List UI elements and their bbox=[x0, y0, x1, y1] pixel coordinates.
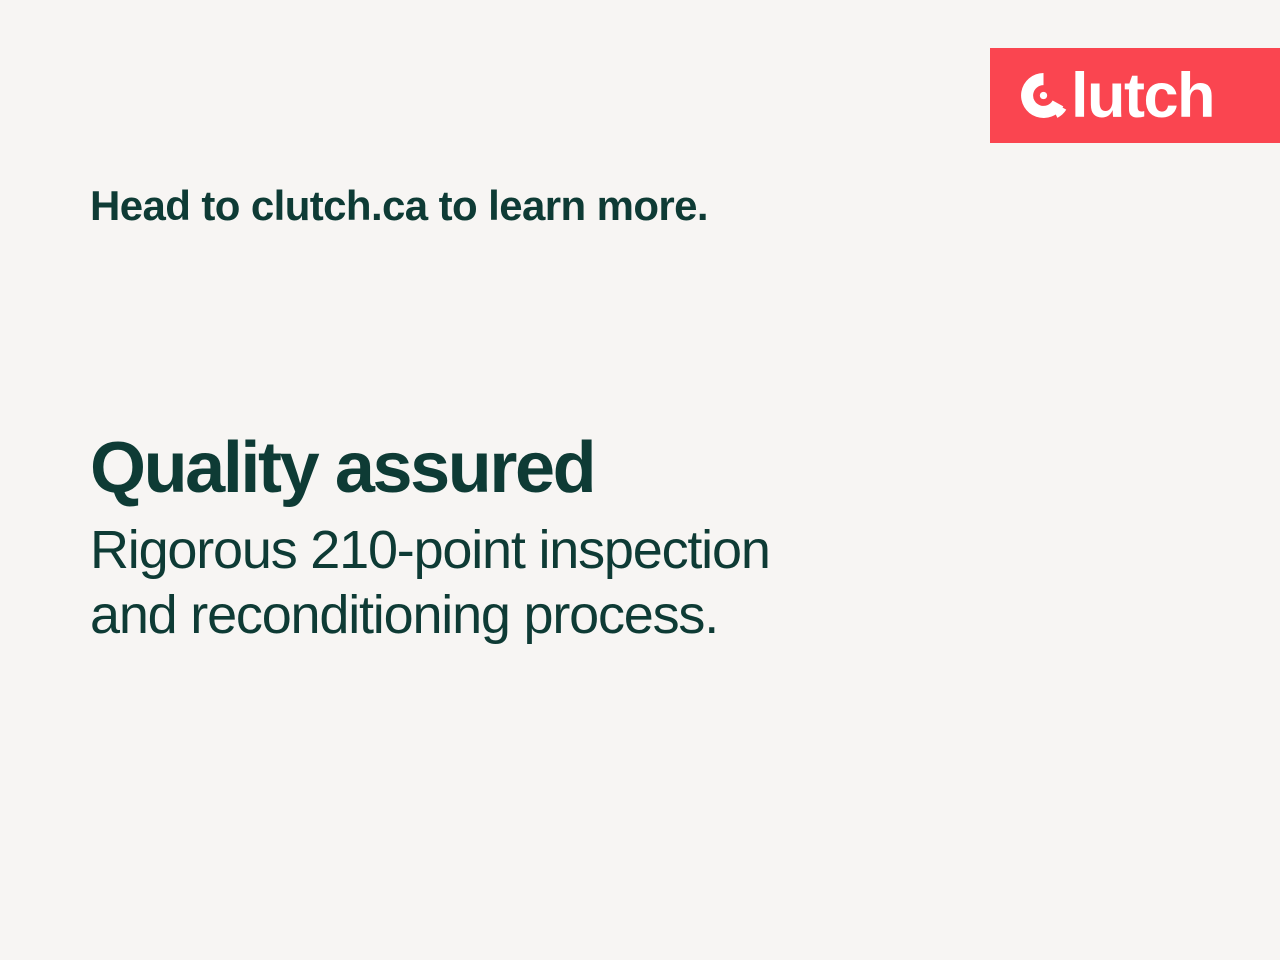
clutch-wordmark-text: lutch bbox=[1071, 65, 1214, 128]
subhead: Rigorous 210-point inspection and recond… bbox=[90, 518, 1050, 648]
kicker-text: Head to clutch.ca to learn more. bbox=[90, 182, 708, 229]
subhead-line-1: Rigorous 210-point inspection bbox=[90, 518, 1050, 583]
promo-slide: lutch Head to clutch.ca to learn more. Q… bbox=[0, 0, 1280, 960]
clutch-logo-block[interactable]: lutch bbox=[990, 48, 1280, 143]
subhead-line-2: and reconditioning process. bbox=[90, 583, 1050, 648]
clutch-c-mark-icon bbox=[1019, 71, 1068, 120]
clutch-wordmark: lutch bbox=[1019, 64, 1214, 127]
message-block: Quality assured Rigorous 210-point inspe… bbox=[90, 432, 1050, 648]
headline: Quality assured bbox=[90, 432, 1050, 504]
